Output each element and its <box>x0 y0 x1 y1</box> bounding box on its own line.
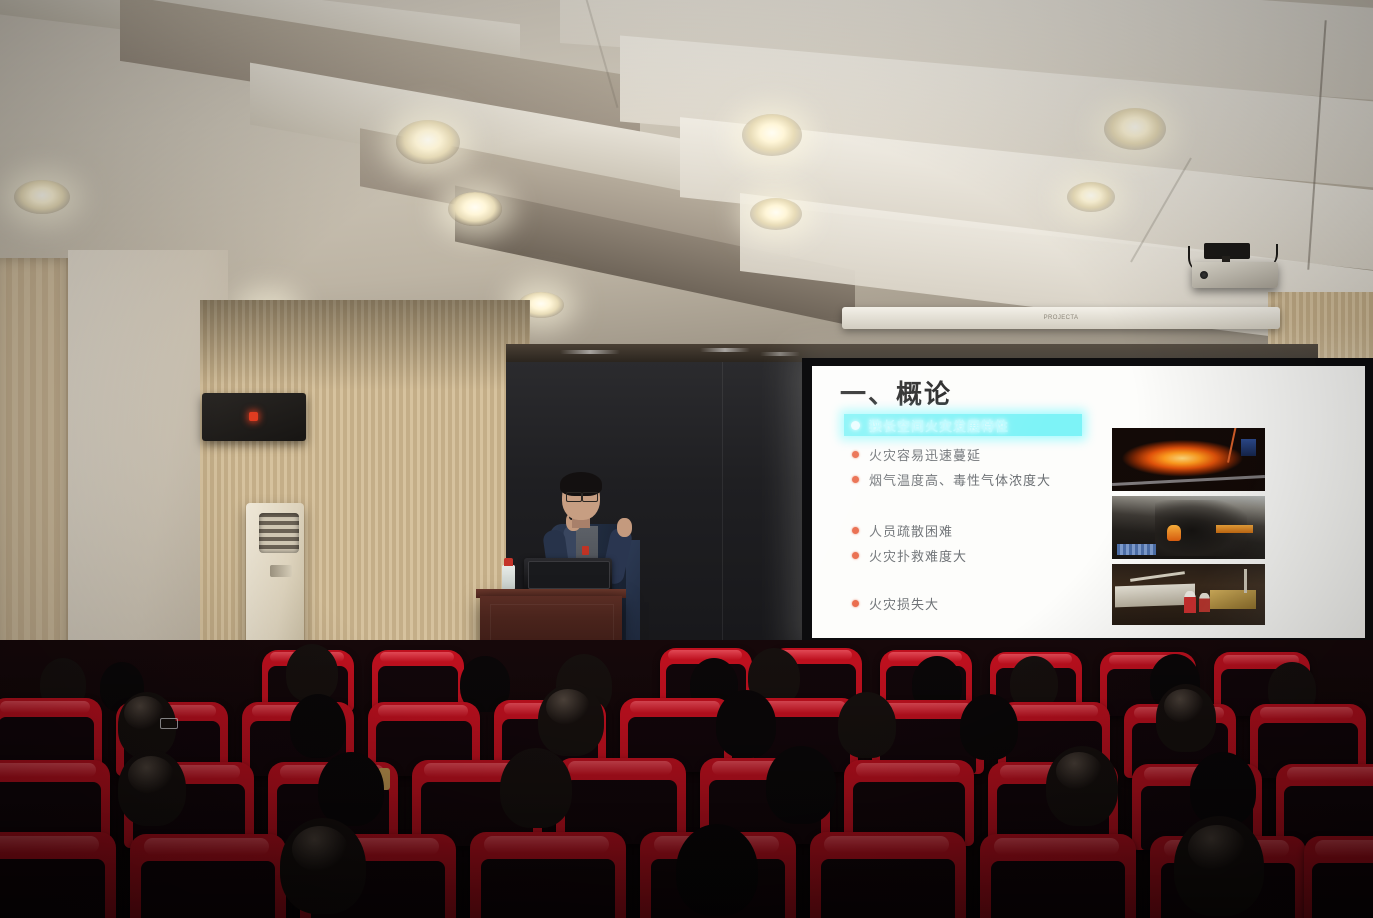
screen-housing-brand: PROJECTA <box>1044 315 1079 321</box>
audience-head <box>500 748 572 828</box>
seat[interactable] <box>810 832 966 918</box>
ceiling-downlight <box>750 198 802 230</box>
audience-head <box>286 644 338 702</box>
audience-head <box>1046 746 1118 826</box>
bullet-dot-icon <box>852 476 859 483</box>
auditorium-photo: PROJECTA 一、概论 狭长空间火灾发展特性 火灾容易迅速蔓延 烟气温度高、… <box>0 0 1373 918</box>
audience-head <box>1190 752 1256 826</box>
ceiling-downlight <box>396 120 460 164</box>
laptop[interactable] <box>524 558 612 591</box>
slide-photo-highway-smoke <box>1112 496 1265 559</box>
bullet-dot-icon <box>852 600 859 607</box>
slide-bullet: 火灾容易迅速蔓延 <box>852 445 981 464</box>
slide-banner-text: 狭长空间火灾发展特性 <box>869 416 1009 435</box>
audience-head <box>118 750 186 826</box>
audience-seating <box>0 640 1373 918</box>
water-bottle[interactable] <box>502 565 515 591</box>
slide-bullet: 人员疏散困难 <box>852 521 953 540</box>
seat[interactable] <box>980 834 1136 918</box>
bullet-dot-icon <box>852 552 859 559</box>
wall-speaker <box>202 393 306 441</box>
slide-bullet-text: 火灾扑救难度大 <box>869 546 967 565</box>
ac-control-panel[interactable] <box>270 565 292 577</box>
laptop-screen <box>528 561 610 589</box>
audience-head <box>280 818 366 914</box>
audience-head <box>766 746 836 824</box>
slide-bullet: 火灾扑救难度大 <box>852 546 967 565</box>
audience-head <box>716 690 776 758</box>
seat[interactable] <box>470 832 626 918</box>
slide-bullet-text: 火灾容易迅速蔓延 <box>869 445 981 464</box>
slide-bullet-text: 火灾损失大 <box>869 594 939 613</box>
audience-head <box>538 684 604 756</box>
slide-title: 一、概论 <box>840 374 952 411</box>
seat[interactable] <box>0 832 116 918</box>
ceiling-downlight <box>742 114 802 156</box>
projection-screen-housing: PROJECTA <box>842 307 1280 329</box>
audience-head <box>676 824 758 916</box>
projector-lens <box>1200 271 1208 279</box>
banner-bullet-icon <box>851 421 860 430</box>
presenter-glasses <box>582 492 598 502</box>
speaker-led-indicator <box>249 412 258 421</box>
slide-bullet: 火灾损失大 <box>852 594 939 613</box>
projection-screen-frame: 一、概论 狭长空间火灾发展特性 火灾容易迅速蔓延 烟气温度高、毒性气体浓度大 人… <box>802 358 1373 646</box>
audience-glasses <box>160 718 178 729</box>
presenter-glasses <box>566 492 582 502</box>
bullet-dot-icon <box>852 451 859 458</box>
ceiling-downlight <box>1104 108 1166 150</box>
bullet-dot-icon <box>852 527 859 534</box>
seat[interactable] <box>1304 836 1373 918</box>
ceiling-projector <box>1192 262 1278 288</box>
presentation-slide: 一、概论 狭长空间火灾发展特性 火灾容易迅速蔓延 烟气温度高、毒性气体浓度大 人… <box>812 366 1365 638</box>
audience-head <box>290 694 346 758</box>
audience-head <box>960 694 1018 760</box>
ac-grille <box>259 513 299 553</box>
slide-photo-fire-aftermath <box>1112 564 1265 625</box>
presenter-badge <box>582 546 589 555</box>
slide-bullet: 烟气温度高、毒性气体浓度大 <box>852 470 1051 489</box>
audience-head <box>1156 684 1216 752</box>
presenter-left-hand <box>617 518 632 537</box>
audience-head <box>1174 816 1264 916</box>
ceiling-downlight <box>448 192 502 226</box>
slide-bullet-text: 烟气温度高、毒性气体浓度大 <box>869 470 1051 489</box>
ceiling-downlight <box>1067 182 1115 212</box>
seat[interactable] <box>130 834 286 918</box>
audience-head <box>838 692 896 758</box>
slide-section-banner: 狭长空间火灾发展特性 <box>844 414 1082 436</box>
bottle-cap <box>504 558 513 566</box>
audience-head <box>318 752 384 826</box>
ceiling-downlight <box>14 180 70 214</box>
slide-bullet-text: 人员疏散困难 <box>869 521 953 540</box>
slide-photo-burning-vehicle <box>1112 428 1265 491</box>
